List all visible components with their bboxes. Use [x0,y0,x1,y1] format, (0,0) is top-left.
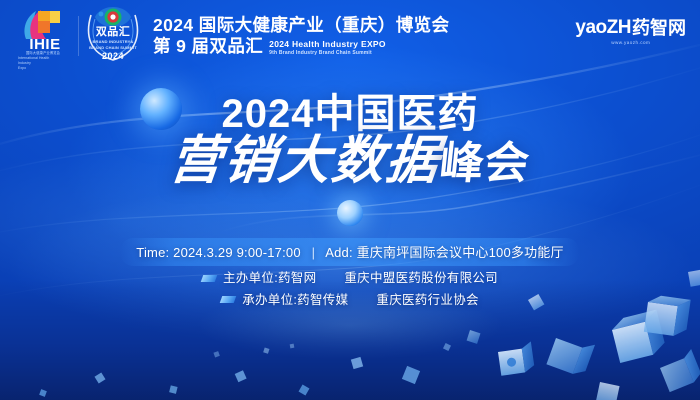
main-title-script: 营销大数据 [167,130,443,191]
ihie-wordmark: IHIE [16,37,74,52]
bullet-icon [201,275,218,282]
shuangpinhui-cn-label: 双品汇 [85,27,141,38]
time-value: 2024.3.29 9:00-17:00 [173,245,301,260]
conference-banner: IHIE 国际大健康产业博览会 International Health Ind… [0,0,700,400]
organizer-list: 主办单位:药智网 重庆中盟医药股份有限公司 承办单位:药智传媒 重庆医药行业协会 [0,272,700,315]
yaozh-latin: yaoZH [575,18,631,37]
yaozh-logo[interactable]: yaoZH 药智网 www.yaozh.com [575,18,686,45]
header-title-line2-en: 2024 Health Industry EXPO 9th Brand Indu… [269,40,386,57]
event-info-pill: Time: 2024.3.29 9:00-17:00 | Add: 重庆南坪国际… [120,238,579,266]
main-title: 2024中国医药 营销大数据峰会 [0,92,700,189]
header-divider [78,16,79,56]
header-title-en1: 2024 Health Industry EXPO [269,40,386,50]
header-title-line2: 第 9 届双品汇 2024 Health Industry EXPO 9th B… [153,36,449,57]
ihie-logo: IHIE 国际大健康产业博览会 International Health Ind… [12,7,74,65]
ihie-en-subtitle: International Health Industry Expo [18,56,70,71]
ihie-cn-subtitle: 国际大健康产业博览会 [12,51,74,55]
header-title-line2-cn: 第 9 届双品汇 [153,36,263,57]
info-separator: | [312,245,316,260]
header-title-en2: 9th Brand Industry Brand Chain Summit [269,50,386,56]
organizer-partner: 重庆中盟医药股份有限公司 [344,272,498,285]
shuangpinhui-year: 2024 [85,51,141,61]
shuangpinhui-logo: 双品汇 BRAND INDUSTRY& BRAND CHAIN SUMMIT 2… [85,5,141,67]
header-title-block: 2024 国际大健康产业（重庆）博览会 第 9 届双品汇 2024 Health… [153,15,449,57]
organizer-label: 承办单位:药智传媒 [242,294,348,307]
yaozh-wordmark: yaoZH 药智网 [575,18,686,37]
main-title-tail: 峰会 [437,141,532,187]
yaozh-han: 药智网 [632,19,686,37]
organizer-label: 主办单位:药智网 [223,272,316,285]
address-label: Add: [325,245,353,260]
glow-orb-small [337,200,363,226]
main-title-line2: 营销大数据峰会 [0,134,700,189]
organizer-partner: 重庆医药行业协会 [376,294,478,307]
bullet-icon [220,296,237,303]
header-title-line1: 2024 国际大健康产业（重庆）博览会 [153,15,449,36]
organizer-row: 主办单位:药智网 重庆中盟医药股份有限公司 [0,272,700,285]
shuangpinhui-eye-icon [94,6,132,28]
banner-header: IHIE 国际大健康产业博览会 International Health Ind… [0,0,700,72]
shuangpinhui-en-label: BRAND INDUSTRY& BRAND CHAIN SUMMIT [85,39,141,51]
time-label: Time: [136,245,169,260]
address-value: 重庆南坪国际会议中心100多功能厅 [357,245,564,260]
organizer-row: 承办单位:药智传媒 重庆医药行业协会 [0,294,700,307]
yaozh-url: www.yaozh.com [575,40,686,45]
